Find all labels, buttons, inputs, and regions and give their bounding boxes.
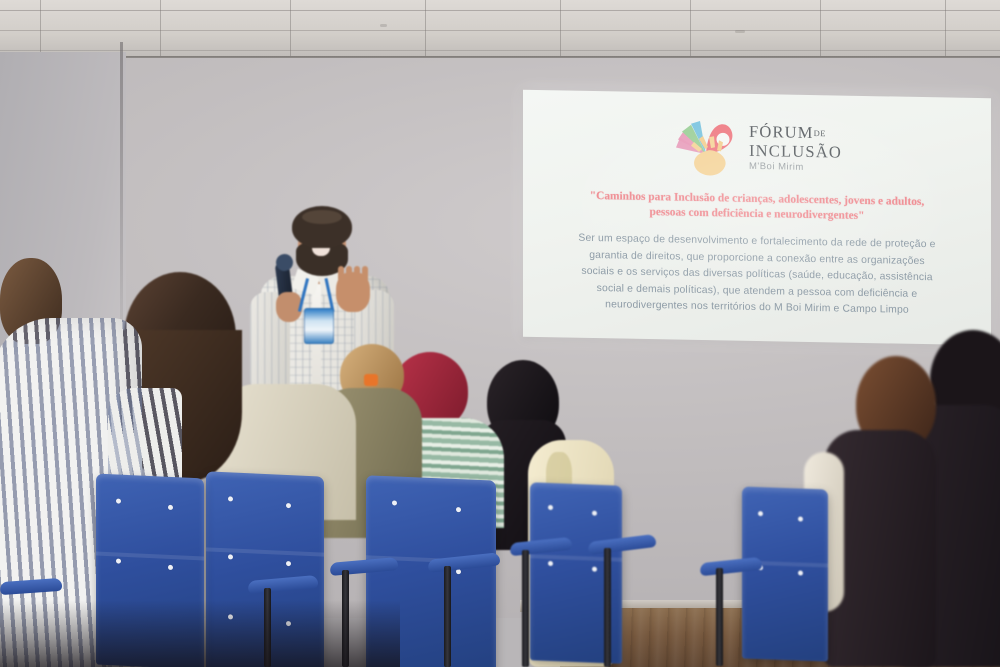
presenter-hair: [292, 206, 352, 248]
logo-name-line1: FÓRUM: [749, 122, 814, 142]
chair-post-center-right: [444, 566, 451, 667]
slide-body-text: Ser um espaço de desenvolvimento e forta…: [541, 230, 973, 320]
slide-title: "Caminhos para Inclusão de crianças, ado…: [541, 188, 973, 226]
forum-logo-wordmark: FÓRUMDE INCLUSÃO M'Boi Mirim: [749, 124, 842, 173]
photo-scene: FÓRUMDE INCLUSÃO M'Boi Mirim "Caminhos p…: [0, 0, 1000, 667]
presenter-hand-right: [336, 272, 370, 312]
forum-logo-icon: [672, 113, 740, 180]
wall-corner: [120, 42, 123, 342]
logo-name-line1-small: DE: [814, 128, 826, 138]
forum-logo: FÓRUMDE INCLUSÃO M'Boi Mirim: [541, 106, 973, 190]
logo-tagline: M'Boi Mirim: [749, 162, 842, 173]
chair-post-mid-right-2: [522, 550, 529, 667]
chair-back-right[interactable]: [742, 486, 828, 661]
chair-post-mid-right: [604, 548, 611, 667]
presenter-badge: [304, 308, 334, 344]
chair-post-right: [716, 568, 723, 666]
foreground-shadow: [0, 600, 400, 667]
ceiling: [0, 0, 1000, 62]
logo-name-line2: INCLUSÃO: [749, 143, 842, 161]
projection-screen: FÓRUMDE INCLUSÃO M'Boi Mirim "Caminhos p…: [523, 90, 991, 346]
ceiling-tile-grid: [0, 0, 1000, 62]
